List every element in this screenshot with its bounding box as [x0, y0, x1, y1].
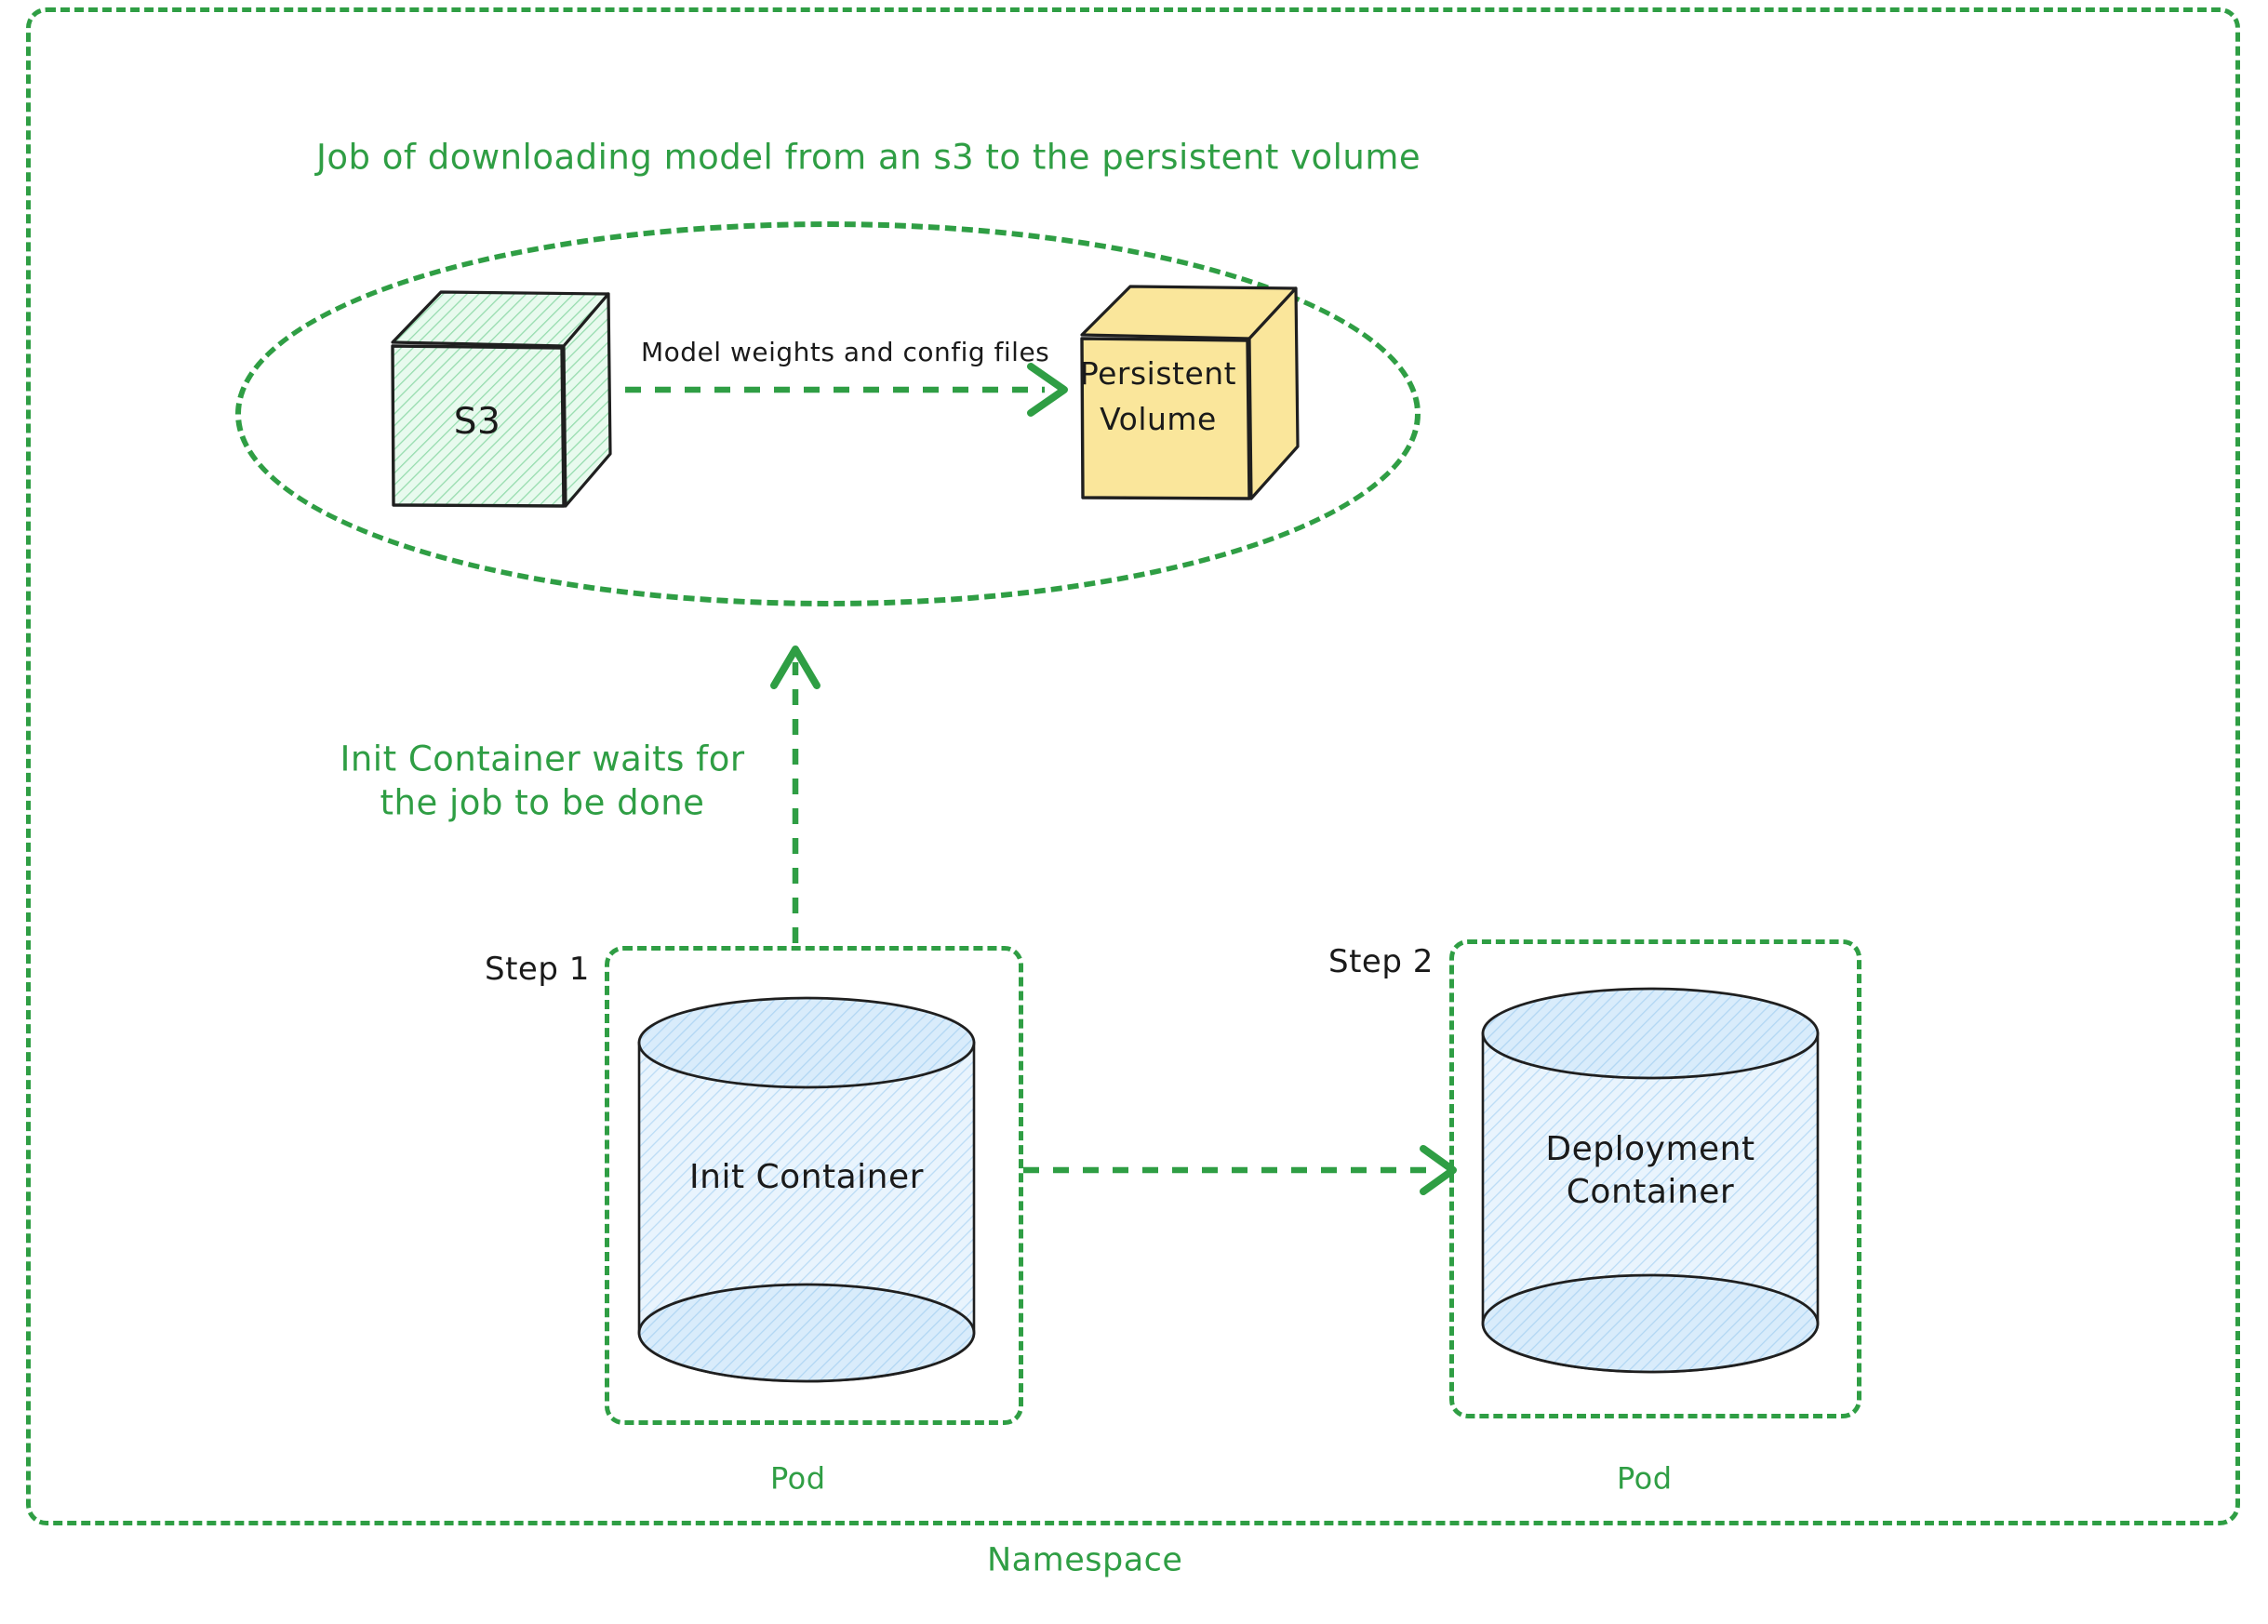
- step-label-1: Step 1: [485, 950, 590, 991]
- persistent-volume-cube-label-line2: Volume: [1074, 401, 1242, 439]
- s3-cube[interactable]: S3: [389, 288, 612, 512]
- persistent-volume-cube[interactable]: Persistent Volume: [1076, 283, 1300, 506]
- persistent-volume-cube-label-line1: Persistent: [1074, 355, 1242, 393]
- pod-label-1: Pod: [770, 1460, 826, 1498]
- step-label-2: Step 2: [1328, 942, 1434, 983]
- pod-label-2: Pod: [1617, 1460, 1673, 1498]
- init-waits-edge-label-line2: the job to be done: [380, 783, 705, 823]
- init-waits-edge-label-line1: Init Container waits for: [340, 739, 744, 779]
- job-group-title: Job of downloading model from an s3 to t…: [316, 135, 1421, 179]
- pod-boundary-1: [605, 946, 1023, 1425]
- model-weights-edge-label: Model weights and config files: [641, 336, 1049, 369]
- s3-cube-label: S3: [389, 400, 566, 445]
- init-waits-edge-label: Init Container waits forthe job to be do…: [296, 738, 789, 826]
- pod-boundary-2: [1449, 939, 1861, 1418]
- diagram-canvas: Namespace Job of downloading model from …: [0, 0, 2268, 1624]
- namespace-label: Namespace: [987, 1540, 1182, 1582]
